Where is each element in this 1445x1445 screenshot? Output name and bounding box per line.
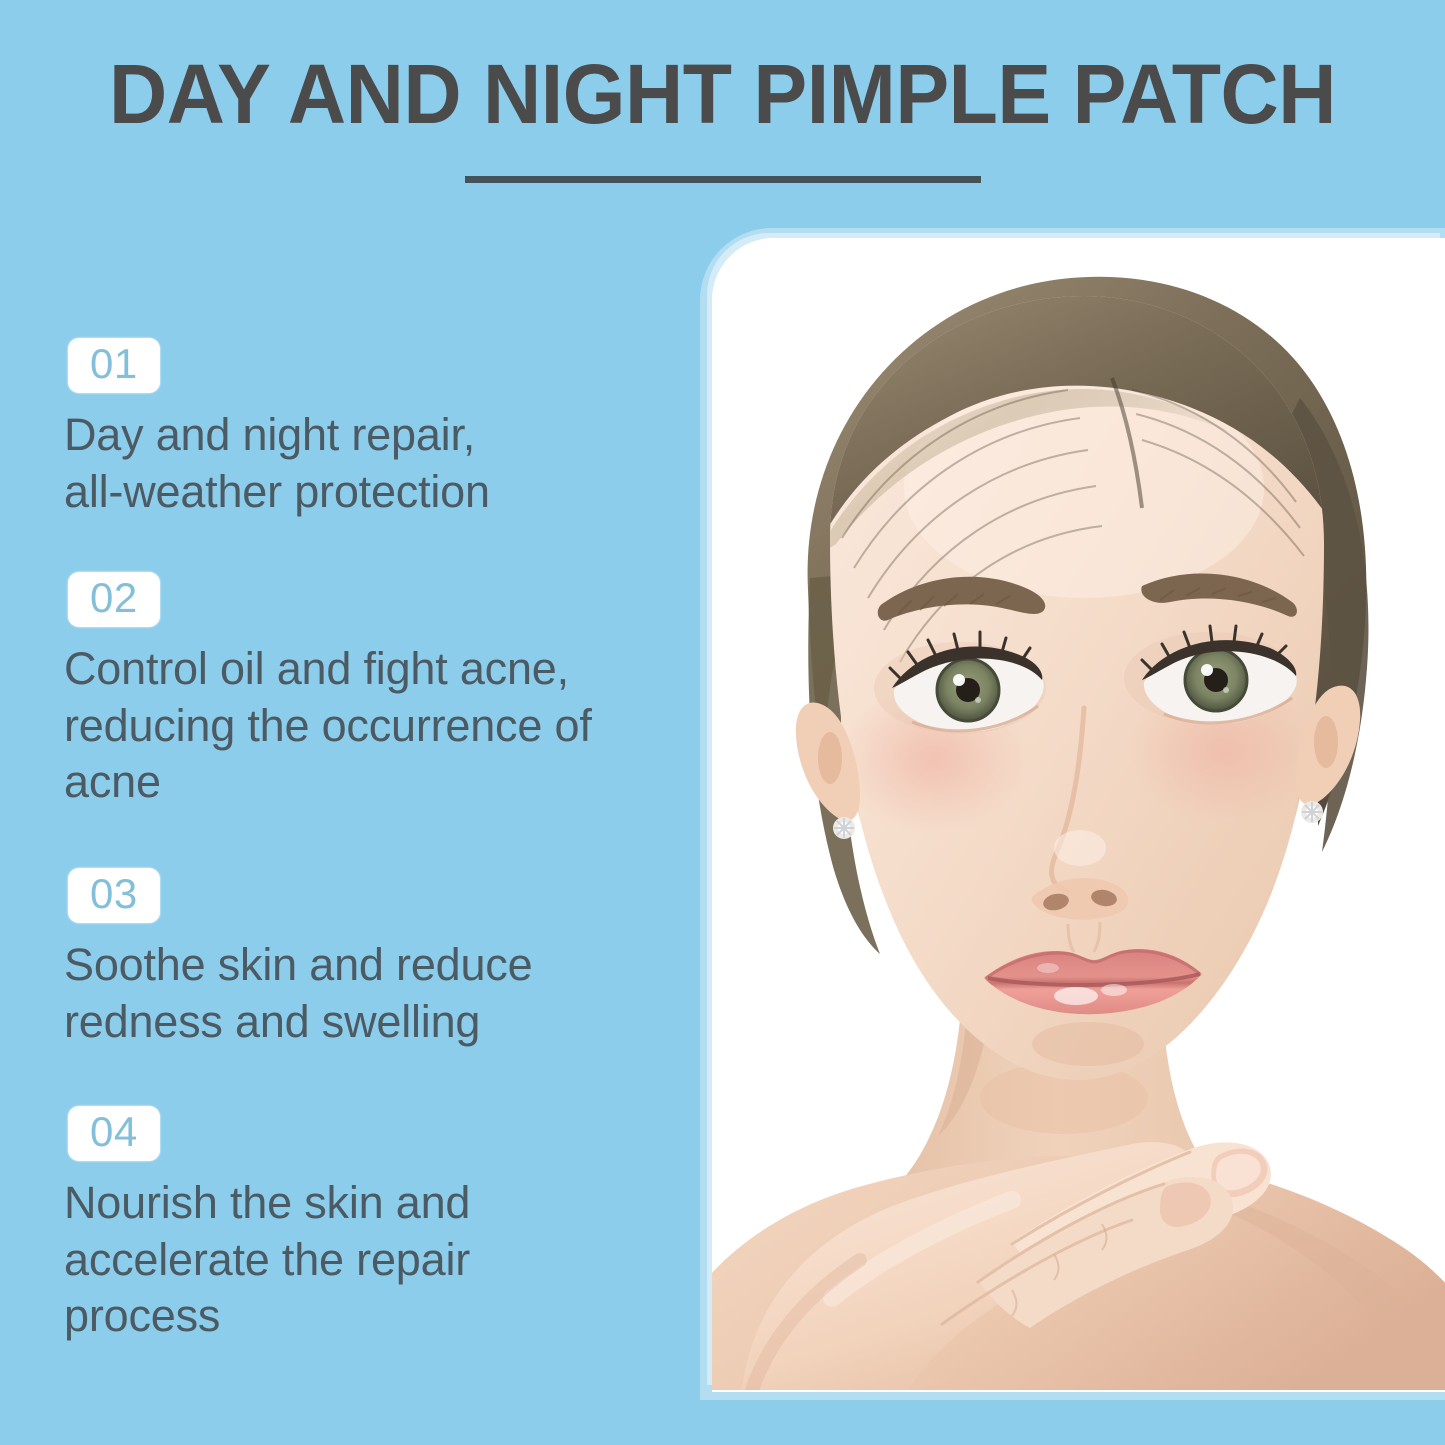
feature-text-04: Nourish the skin and accelerate the repa…: [64, 1175, 664, 1345]
page-title: DAY AND NIGHT PIMPLE PATCH: [29, 52, 1416, 138]
model-portrait-image: [712, 238, 1445, 1390]
earring-left: [833, 817, 855, 839]
feature-badge-02: 02: [68, 572, 160, 627]
feature-badge-04: 04: [68, 1106, 160, 1161]
feature-number-04: 04: [90, 1111, 138, 1154]
title-divider: [465, 176, 981, 183]
feature-text-01: Day and night repair, all-weather protec…: [64, 407, 664, 520]
feature-badge-03: 03: [68, 868, 160, 923]
infographic-page: DAY AND NIGHT PIMPLE PATCH: [0, 0, 1445, 1445]
feature-number-02: 02: [90, 577, 138, 620]
feature-item-03: 03 Soothe skin and reduce redness and sw…: [64, 868, 664, 1050]
product-photo-panel: [712, 238, 1445, 1390]
feature-number-01: 01: [90, 343, 138, 386]
header: DAY AND NIGHT PIMPLE PATCH: [0, 52, 1445, 183]
feature-item-02: 02 Control oil and fight acne, reducing …: [64, 572, 664, 811]
feature-text-02: Control oil and fight acne, reducing the…: [64, 641, 664, 811]
feature-item-01: 01 Day and night repair, all-weather pro…: [64, 338, 664, 520]
earring-right: [1301, 801, 1323, 823]
feature-text-03: Soothe skin and reduce redness and swell…: [64, 937, 664, 1050]
feature-item-04: 04 Nourish the skin and accelerate the r…: [64, 1106, 664, 1345]
feature-number-03: 03: [90, 873, 138, 916]
feature-badge-01: 01: [68, 338, 160, 393]
